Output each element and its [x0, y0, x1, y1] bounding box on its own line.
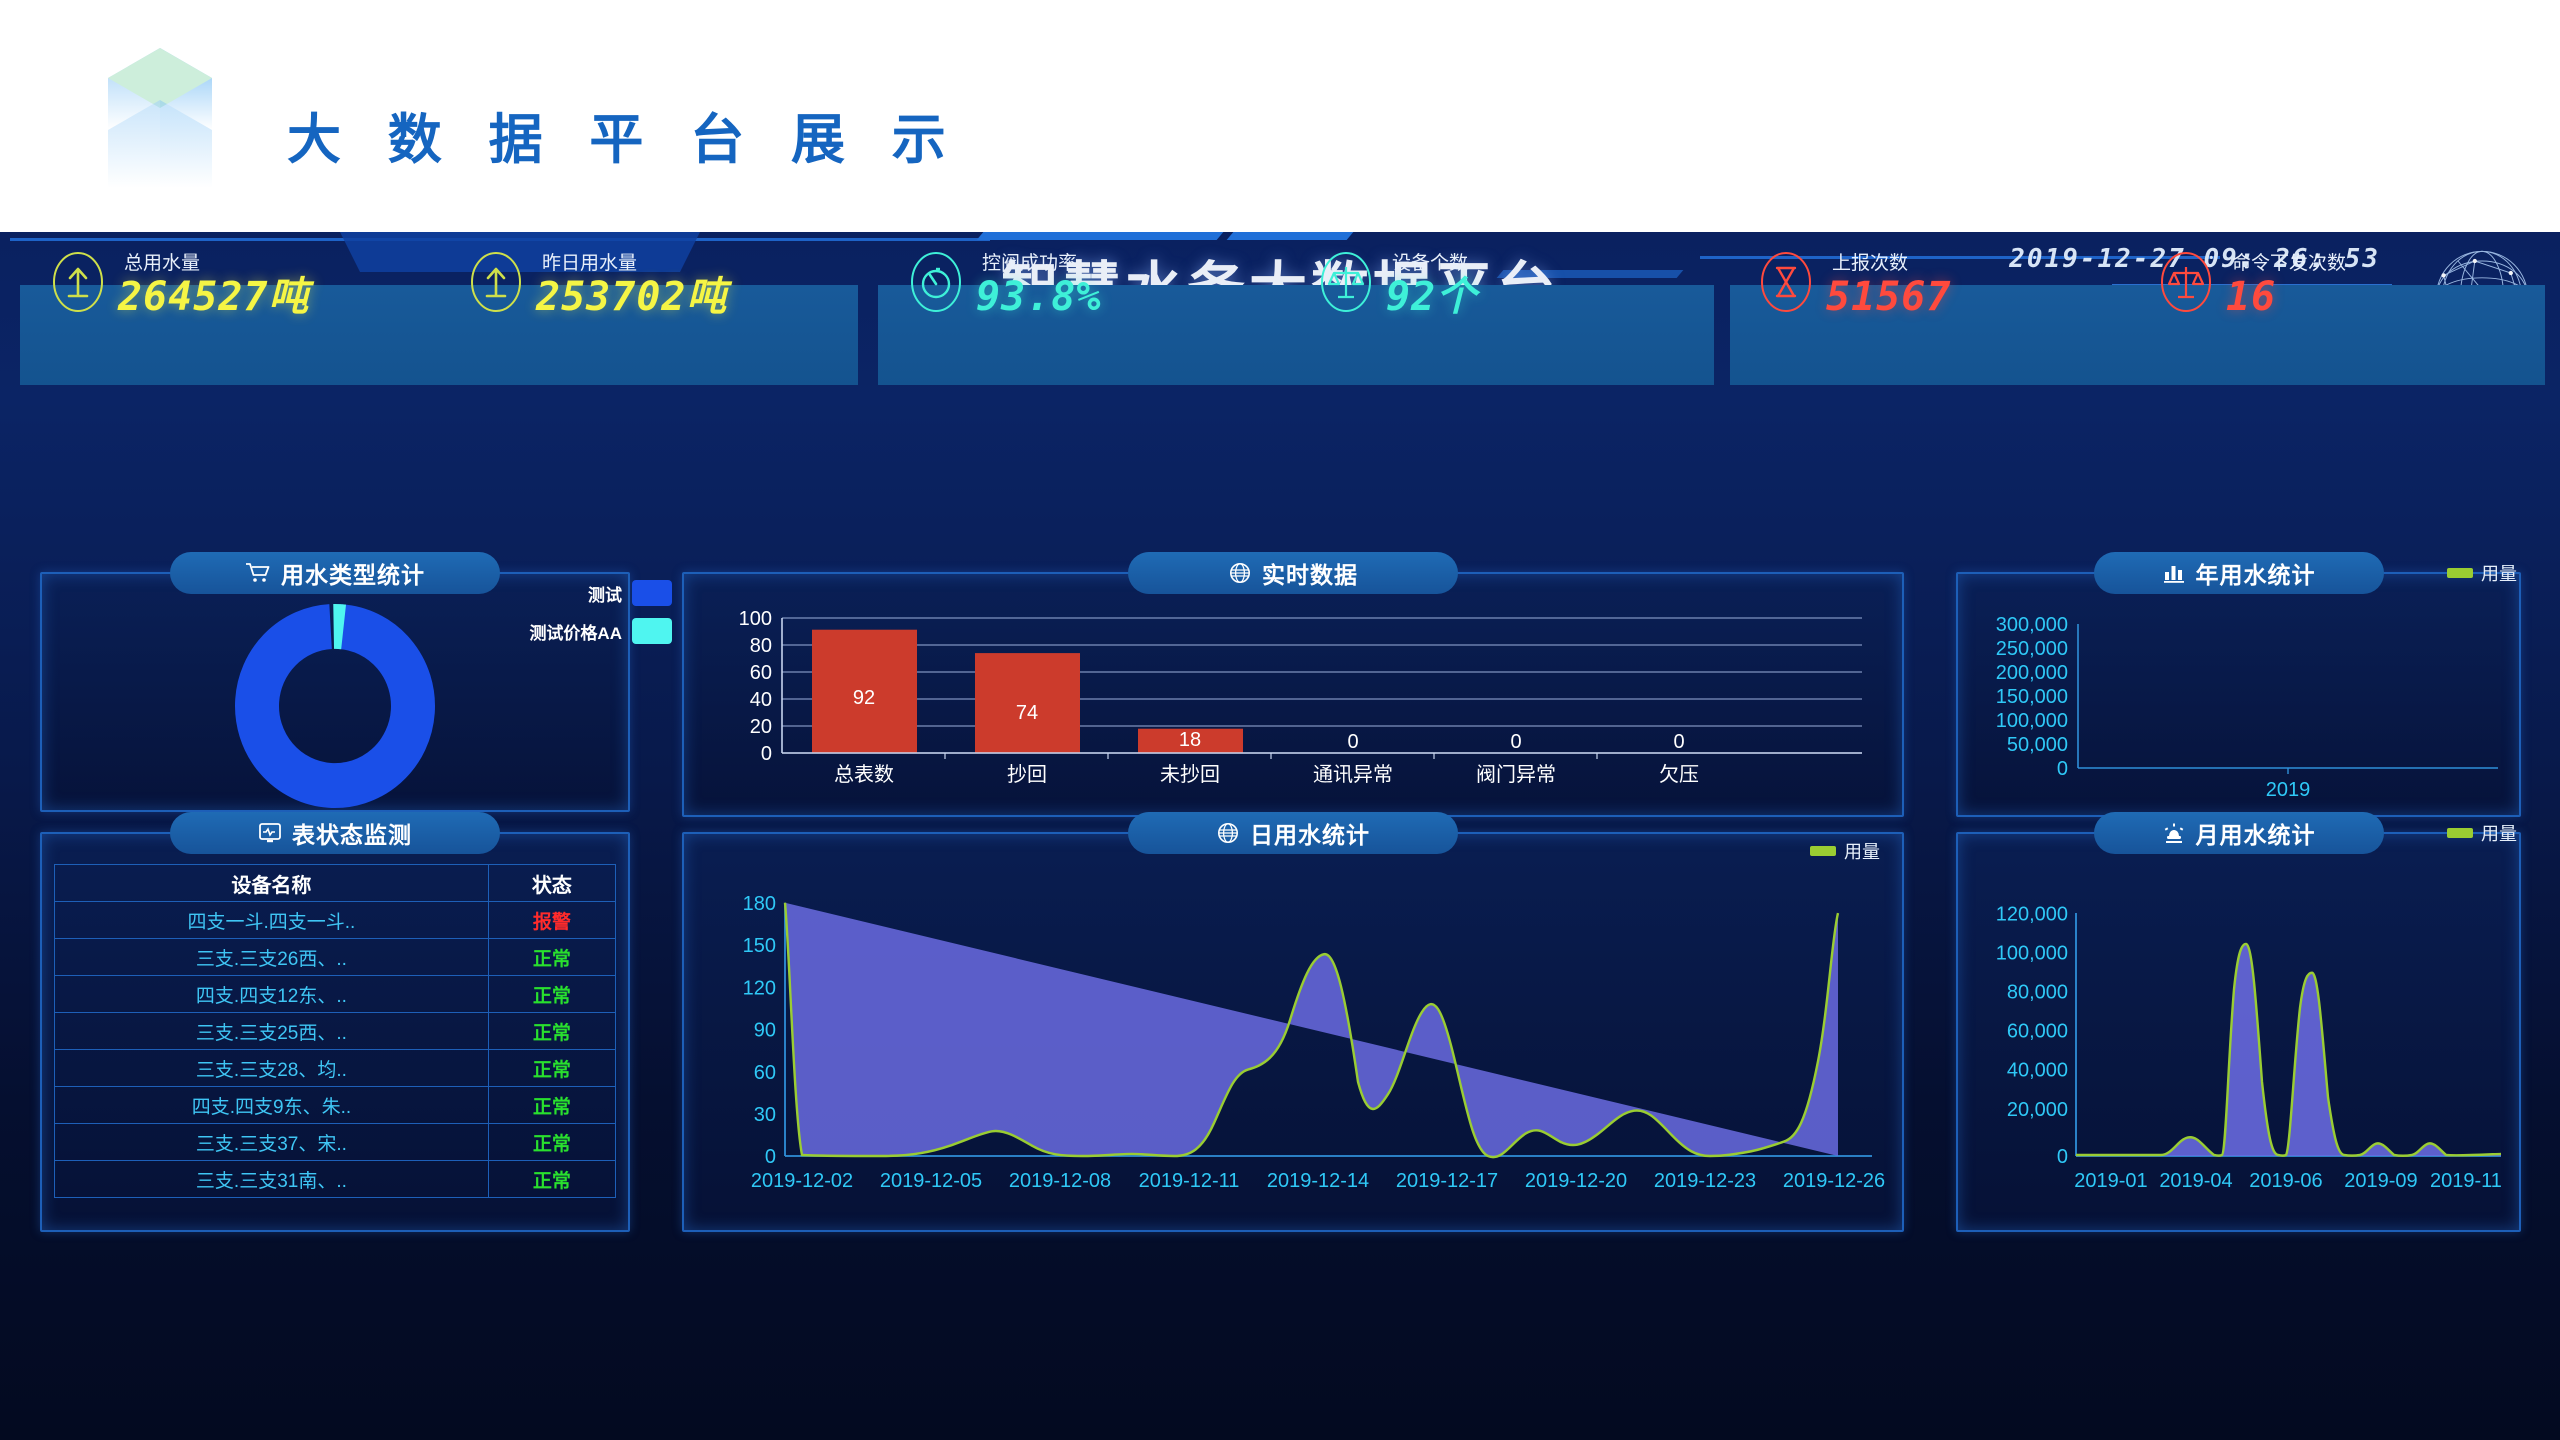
panel-title-label: 表状态监测: [292, 816, 412, 850]
table-row[interactable]: 三支.三支37、宋..正常: [55, 1124, 616, 1161]
panel-realtime: 实时数据 100 80 60 40: [682, 572, 1904, 817]
meter-status-tbody: 四支一斗.四支一斗..报警三支.三支26西、..正常四支.四支12东、..正常三…: [55, 902, 616, 1198]
legend-monthly[interactable]: 用量: [2447, 820, 2517, 846]
status-badge: 正常: [488, 1013, 615, 1050]
col-status: 状态: [488, 865, 615, 902]
svg-text:40: 40: [750, 689, 772, 711]
panel-title-label: 实时数据: [1262, 556, 1358, 590]
panel-title-label: 用水类型统计: [281, 556, 425, 590]
svg-text:60: 60: [754, 1062, 776, 1084]
kpi-value: 92个: [1386, 277, 1477, 317]
kpi-label: 设备个数: [1392, 248, 1468, 275]
panel-title-label: 月用水统计: [2196, 816, 2316, 850]
svg-text:2019-12-08: 2019-12-08: [1009, 1170, 1111, 1192]
svg-text:20,000: 20,000: [2007, 1099, 2068, 1121]
status-badge: 正常: [488, 976, 615, 1013]
status-badge: 正常: [488, 1087, 615, 1124]
cart-icon: [245, 562, 271, 584]
svg-text:150: 150: [743, 935, 776, 957]
legend-label: 用量: [2481, 560, 2517, 586]
svg-text:120,000: 120,000: [1996, 903, 2068, 925]
monthly-area-chart[interactable]: 120,000 100,000 80,000 60,000 40,000 20,…: [1956, 876, 2521, 1226]
table-header-row: 设备名称 状态: [55, 865, 616, 902]
hourglass-icon: [1760, 251, 1812, 313]
cell-device-name: 三支.三支31南、..: [55, 1161, 489, 1198]
panel-daily: 日用水统计 用量 180 150 120 90 60 30 0: [682, 832, 1904, 1232]
panel-body: 100 80 60 40 20 0 92 74 18 0 0 0: [682, 606, 1904, 811]
arrow-up-circle-icon: [52, 251, 104, 313]
legend-label: 测试价格AA: [529, 619, 622, 644]
panel-title-yearly: 年用水统计: [2094, 552, 2384, 594]
kpi-label: 总用水量: [124, 248, 200, 275]
kpi-value: 51567: [1826, 277, 1951, 317]
svg-text:250,000: 250,000: [1996, 638, 2068, 660]
svg-text:120: 120: [743, 977, 776, 999]
meter-status-table: 设备名称 状态 四支一斗.四支一斗..报警三支.三支26西、..正常四支.四支1…: [54, 864, 616, 1198]
svg-text:60: 60: [750, 662, 772, 684]
kpi-value: 264527吨: [118, 277, 310, 317]
panel-meter-status: 表状态监测 设备名称 状态 四支一斗.四支一斗..报警三支.三支26西、..正常…: [40, 832, 630, 1232]
donut-legend: 测试 测试价格AA: [529, 580, 672, 656]
table-row[interactable]: 三支.三支26西、..正常: [55, 939, 616, 976]
kpi-device-count: 设备个数 92个: [1320, 232, 1720, 332]
legend-label: 用量: [1844, 838, 1880, 864]
panel-title-monthly: 月用水统计: [2094, 812, 2384, 854]
kpi-label: 昨日用水量: [542, 248, 637, 275]
bar-chart-icon: [2162, 562, 2186, 584]
svg-text:18: 18: [1179, 729, 1201, 751]
legend-swatch: [1810, 846, 1836, 856]
cell-device-name: 三支.三支26西、..: [55, 939, 489, 976]
table-row[interactable]: 四支.四支12东、..正常: [55, 976, 616, 1013]
cell-device-name: 四支.四支9东、朱..: [55, 1087, 489, 1124]
cell-device-name: 四支一斗.四支一斗..: [55, 902, 489, 939]
panel-yearly: 年用水统计 用量 300,000 250,000 200,000 150,000…: [1956, 572, 2521, 817]
status-badge: 正常: [488, 1161, 615, 1198]
svg-text:2019-12-02: 2019-12-02: [751, 1170, 853, 1192]
svg-text:100: 100: [739, 608, 772, 630]
legend-yearly[interactable]: 用量: [2447, 560, 2517, 586]
svg-text:74: 74: [1016, 702, 1038, 724]
table-row[interactable]: 四支一斗.四支一斗..报警: [55, 902, 616, 939]
legend-item[interactable]: 测试价格AA: [529, 618, 672, 644]
panel-title-label: 年用水统计: [2196, 556, 2316, 590]
x-tick-2019: 2019: [2266, 779, 2311, 801]
arrow-up-circle-icon: [470, 251, 522, 313]
cell-device-name: 四支.四支12东、..: [55, 976, 489, 1013]
svg-text:阀门异常: 阀门异常: [1476, 763, 1556, 786]
kpi-command-count: 命令下发次数 16: [2160, 232, 2560, 332]
svg-text:2019-11: 2019-11: [2430, 1170, 2502, 1192]
timer-circle-icon: [910, 251, 962, 313]
svg-text:0: 0: [1347, 731, 1358, 753]
svg-text:2019-12-20: 2019-12-20: [1525, 1170, 1627, 1192]
svg-text:通讯异常: 通讯异常: [1313, 763, 1393, 786]
legend-swatch: [632, 618, 672, 644]
svg-text:0: 0: [1673, 731, 1684, 753]
svg-text:2019-09: 2019-09: [2344, 1170, 2417, 1192]
svg-text:2019-12-05: 2019-12-05: [880, 1170, 982, 1192]
table-row[interactable]: 三支.三支25西、..正常: [55, 1013, 616, 1050]
realtime-bar-chart[interactable]: 100 80 60 40 20 0 92 74 18 0 0 0: [682, 606, 1904, 811]
svg-text:30: 30: [754, 1104, 776, 1126]
dashboard-root: 智慧水务大数据平台 DATA PLATFORM 2019-12-27 09: 2…: [0, 232, 2560, 1440]
kpi-value: 16: [2226, 277, 2276, 317]
panel-body: 180 150 120 90 60 30 0 2019-12-02 2019-1…: [682, 876, 1904, 1226]
cell-device-name: 三支.三支28、均..: [55, 1050, 489, 1087]
svg-text:2019-04: 2019-04: [2159, 1170, 2232, 1192]
svg-text:50,000: 50,000: [2007, 734, 2068, 756]
kpi-label: 上报次数: [1832, 248, 1908, 275]
slide-header: 大 数 据 平 台 展 示: [0, 0, 2560, 232]
svg-text:200,000: 200,000: [1996, 662, 2068, 684]
svg-text:100,000: 100,000: [1996, 710, 2068, 732]
panel-title-label: 日用水统计: [1250, 816, 1370, 850]
monitor-pulse-icon: [258, 822, 282, 844]
panel-title-water-type: 用水类型统计: [170, 552, 500, 594]
legend-label: 测试: [588, 581, 622, 606]
panel-body: 300,000 250,000 200,000 150,000 100,000 …: [1956, 606, 2521, 811]
svg-text:80,000: 80,000: [2007, 981, 2068, 1003]
cell-device-name: 三支.三支25西、..: [55, 1013, 489, 1050]
legend-swatch: [2447, 568, 2473, 578]
svg-text:2019-12-17: 2019-12-17: [1396, 1170, 1498, 1192]
svg-text:2019-12-23: 2019-12-23: [1654, 1170, 1756, 1192]
panel-title-meter-status: 表状态监测: [170, 812, 500, 854]
kpi-yesterday-usage: 昨日用水量 253702吨: [470, 232, 870, 332]
svg-text:300,000: 300,000: [1996, 614, 2068, 636]
svg-text:2019-06: 2019-06: [2249, 1170, 2322, 1192]
kpi-total-usage: 总用水量 264527吨: [52, 232, 452, 332]
panel-water-type: 用水类型统计 测试 测试价格AA: [40, 572, 630, 812]
globe-grid-icon: [1216, 821, 1240, 845]
svg-text:2019-12-11: 2019-12-11: [1139, 1170, 1240, 1192]
svg-text:40,000: 40,000: [2007, 1059, 2068, 1081]
svg-text:欠压: 欠压: [1659, 763, 1699, 786]
monthly-area-fill: [2076, 944, 2501, 1156]
daily-area-chart[interactable]: 180 150 120 90 60 30 0 2019-12-02 2019-1…: [682, 876, 1904, 1226]
table-row[interactable]: 三支.三支31南、..正常: [55, 1161, 616, 1198]
kpi-report-count: 上报次数 51567: [1760, 232, 2160, 332]
legend-daily[interactable]: 用量: [1810, 838, 1880, 864]
svg-text:80: 80: [750, 635, 772, 657]
svg-text:180: 180: [743, 893, 776, 915]
kpi-value: 253702吨: [536, 277, 728, 317]
status-badge: 报警: [488, 902, 615, 939]
status-badge: 正常: [488, 1124, 615, 1161]
svg-text:2019-01: 2019-01: [2074, 1170, 2147, 1192]
kpi-label: 控阀成功率: [982, 248, 1077, 275]
monthly-area-line: [2076, 944, 2501, 1156]
legend-swatch: [632, 580, 672, 606]
svg-text:2019-12-26: 2019-12-26: [1783, 1170, 1885, 1192]
cell-device-name: 三支.三支37、宋..: [55, 1124, 489, 1161]
panel-body: 设备名称 状态 四支一斗.四支一斗..报警三支.三支26西、..正常四支.四支1…: [54, 860, 616, 1224]
scales-icon: [2160, 251, 2212, 313]
col-device-name: 设备名称: [55, 865, 489, 902]
svg-text:总表数: 总表数: [834, 763, 894, 786]
panel-body: 120,000 100,000 80,000 60,000 40,000 20,…: [1956, 876, 2521, 1226]
svg-text:0: 0: [2057, 758, 2068, 780]
status-badge: 正常: [488, 939, 615, 976]
daily-area-fill: [785, 903, 1838, 1157]
svg-text:0: 0: [765, 1146, 776, 1168]
kpi-value: 93.8%: [976, 277, 1101, 317]
svg-text:抄回: 抄回: [1007, 763, 1047, 786]
alarm-light-icon: [2162, 822, 2186, 844]
svg-text:90: 90: [754, 1019, 776, 1041]
legend-item[interactable]: 测试: [529, 580, 672, 606]
svg-text:100,000: 100,000: [1996, 942, 2068, 964]
legend-swatch: [2447, 828, 2473, 838]
panel-monthly: 月用水统计 用量 120,000 100,000 80,000 60,000 4…: [1956, 832, 2521, 1232]
svg-text:未抄回: 未抄回: [1160, 763, 1220, 786]
scales-icon: [1320, 251, 1372, 313]
svg-text:20: 20: [750, 716, 772, 738]
yearly-bar-chart[interactable]: 300,000 250,000 200,000 150,000 100,000 …: [1956, 606, 2521, 811]
svg-text:2019-12-14: 2019-12-14: [1267, 1170, 1369, 1192]
svg-text:0: 0: [2057, 1146, 2068, 1168]
svg-text:60,000: 60,000: [2007, 1020, 2068, 1042]
globe-grid-icon: [1228, 561, 1252, 585]
svg-text:150,000: 150,000: [1996, 686, 2068, 708]
svg-text:0: 0: [761, 743, 772, 765]
status-badge: 正常: [488, 1050, 615, 1087]
table-row[interactable]: 三支.三支28、均..正常: [55, 1050, 616, 1087]
table-row[interactable]: 四支.四支9东、朱..正常: [55, 1087, 616, 1124]
panel-title-daily: 日用水统计: [1128, 812, 1458, 854]
kpi-valve-success-rate: 控阀成功率 93.8%: [910, 232, 1310, 332]
svg-text:92: 92: [853, 687, 875, 709]
page-title: 大 数 据 平 台 展 示: [287, 95, 960, 174]
kpi-label: 命令下发次数: [2232, 248, 2346, 275]
cube-logo-icon: [100, 38, 220, 198]
svg-text:0: 0: [1510, 731, 1521, 753]
panel-title-realtime: 实时数据: [1128, 552, 1458, 594]
legend-label: 用量: [2481, 820, 2517, 846]
